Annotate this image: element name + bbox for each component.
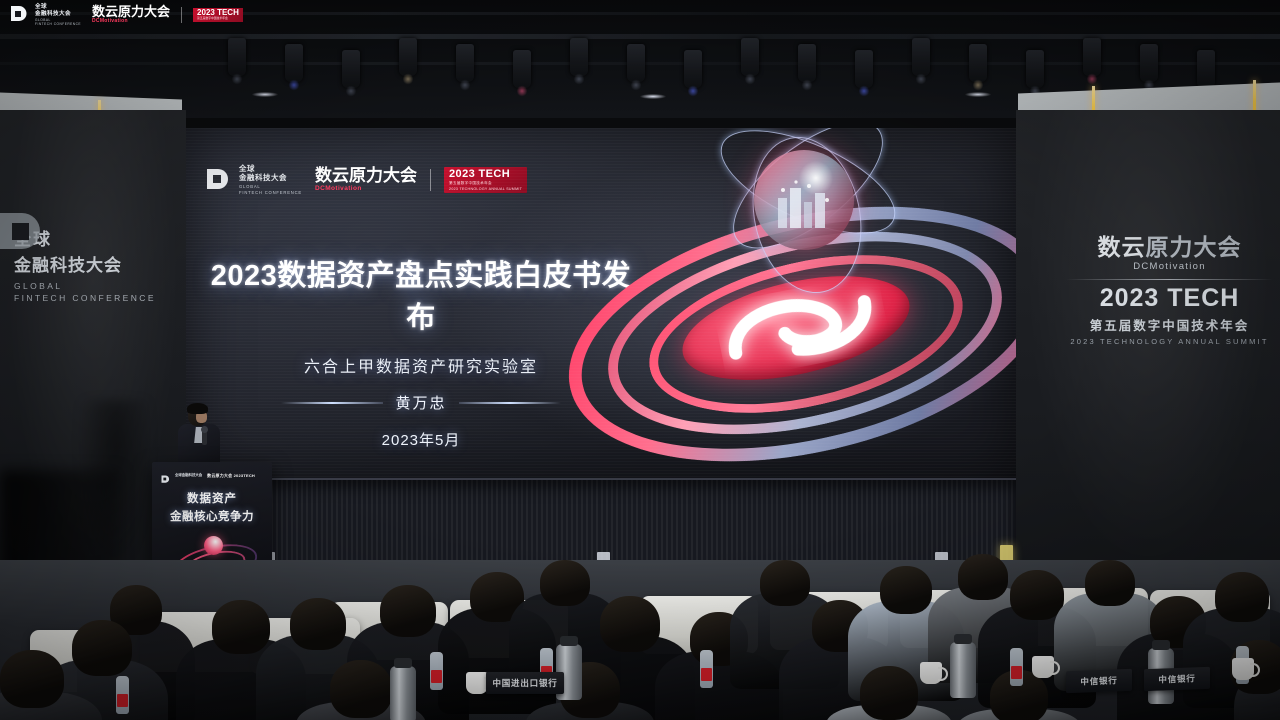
stage-light-14 [969,44,987,82]
stage-light-17 [1140,44,1158,82]
audience-person-head-15 [1010,570,1064,620]
nameplate-2: 中信银行 [1144,667,1210,691]
podium-title-line2: 金融核心竞争力 [152,508,272,524]
wall-logo-right: 数云原力大会 DCMotivation 2023 TECH 第五届数字中国技术年… [1062,228,1277,346]
podium-title-block: 数据资产 金融核心竞争力 [152,490,272,524]
tea-cup-2 [920,662,942,684]
overlay-divider [181,7,182,23]
audience-person-head-5 [0,650,64,708]
wall-left-en2: FINTECH CONFERENCE [14,292,180,304]
thermos-flask-4 [390,666,416,720]
stage-light-18 [1197,50,1215,88]
audience-person-head-2 [212,600,270,654]
spotlight-beam-3 [965,92,991,97]
fintech-mark-icon [206,167,233,194]
nameplate-label: 中信银行 [1080,674,1117,687]
screen-logo-event-cn: 数云原力大会 [315,168,417,184]
audience-person-head-6 [380,585,436,637]
wall-left-en1: GLOBAL [14,280,180,292]
wall-right-line5: 2023 TECHNOLOGY ANNUAL SUMMIT [1062,337,1277,346]
water-bottle-3 [1010,648,1023,686]
audience-person-head-3 [290,598,346,650]
stage-light-11 [798,44,816,82]
stage-light-16 [1083,38,1101,76]
fintech-mark-icon [10,5,30,25]
tea-cup-3 [1232,658,1254,680]
water-bottle-1 [430,652,443,690]
wall-right-divider [1066,279,1273,280]
screen-logo-year-badge: 2023 TECH 第五届数字中国技术年会 2023 TECHNOLOGY AN… [444,167,527,193]
spotlight-beam-2 [640,94,666,99]
screen-year: 2023 TECH [449,169,522,180]
stage-light-4 [399,38,417,76]
wall-right-line1: 数云原力大会 [1062,228,1277,262]
overlay-en2: FINTECH CONFERENCE [35,22,81,26]
audience-person-head-11 [760,560,810,606]
audience-person-head-16 [1085,560,1135,606]
audience-person-head-13 [880,566,932,614]
overlay-cn1: 全球 [35,4,81,11]
audience-person-head-8 [540,560,590,606]
stage-light-15 [1026,50,1044,88]
stage-light-10 [741,38,759,76]
podium-logo-label-2: 数云原力大会 2023TECH [207,473,255,479]
audience-person-head-4 [72,620,132,676]
screen-logo-event-en: DCMotivation [315,185,417,192]
nameplate-label: 中信银行 [1158,672,1195,685]
stage-graphic-swirl [542,136,1016,476]
podium-logo-label-1: 全球金融科技大会 [175,473,202,477]
screen-logo-dcmotivation: 数云原力大会 DCMotivation [315,168,417,191]
screen-year-sub1: 第五届数字中国技术年会 [449,181,522,186]
nameplate-0: 中国进出口银行 [486,672,564,694]
water-bottle-5 [116,676,129,714]
stage-light-5 [456,44,474,82]
overlay-logo-fintech: 全球 金融科技大会 GLOBAL FINTECH CONFERENCE [10,4,81,26]
nameplate-1: 中信银行 [1066,669,1132,693]
wall-right-line4: 第五届数字中国技术年会 [1062,315,1277,334]
water-bottle-6 [700,650,713,688]
overlay-event-cn: 数云原力大会 [92,6,170,18]
overlay-cn2: 金融科技大会 [35,11,81,18]
broadcast-overlay-logos: 全球 金融科技大会 GLOBAL FINTECH CONFERENCE 数云原力… [10,4,243,26]
city-skyline-icon [776,180,834,228]
screen-logo-cn1: 全球 [239,164,302,173]
overlay-year-sub: 第五届数字中国技术年会 [197,17,239,20]
nameplate-label: 中国进出口银行 [492,677,557,689]
podium-title-line1: 数据资产 [152,490,272,506]
wall-right-line2: DCMotivation [1062,261,1277,272]
screen-logo-en1: GLOBAL [239,184,302,190]
wall-logo-left: 全球 金融科技大会 GLOBAL FINTECH CONFERENCE [14,225,180,305]
wall-right-line3: 2023 TECH [1062,286,1277,311]
screen-logo-fintech: 全球 金融科技大会 GLOBAL FINTECH CONFERENCE [206,164,302,196]
presenter-name: 黄万忠 [395,392,446,413]
screen-logo-divider [430,169,431,191]
audience-person-head-20 [330,660,392,718]
stage-light-7 [570,38,588,76]
screen-logo-bar: 全球 金融科技大会 GLOBAL FINTECH CONFERENCE 数云原力… [206,164,527,196]
conference-stage-photo: 全球 金融科技大会 GLOBAL FINTECH CONFERENCE 数云原力… [0,0,1280,720]
audience-person-head-22 [860,666,918,720]
stage-light-13 [912,38,930,76]
audience-person-head-18 [1215,572,1269,622]
screen-logo-en2: FINTECH CONFERENCE [239,190,302,196]
fintech-mark-icon [0,209,52,279]
stage-light-12 [855,50,873,88]
audience-person-head-9 [600,596,660,652]
podium-logo-bar: 全球金融科技大会 数云原力大会 2023TECH [161,471,255,480]
stage-light-9 [684,50,702,88]
main-led-screen: 全球 金融科技大会 GLOBAL FINTECH CONFERENCE 数云原力… [186,128,1016,480]
stage-light-2 [285,44,303,82]
tea-cup-4 [466,672,488,694]
wall-right [1016,110,1280,590]
spotlight-beam-1 [252,92,278,97]
stage-light-3 [342,50,360,88]
data-sphere-icon [754,150,854,250]
presenter-person [176,404,220,466]
overlay-event-en: DCMotivation [92,18,170,24]
name-rule-left [281,402,383,404]
fintech-mark-icon [161,471,170,480]
audience-person-head-14 [958,554,1008,600]
stage-light-8 [627,44,645,82]
overlay-year-badge: 2023 TECH 第五届数字中国技术年会 [193,8,243,21]
stage-light-6 [513,50,531,88]
tea-cup-1 [1032,656,1054,678]
overlay-logo-event: 数云原力大会 DCMotivation [92,6,170,24]
stage-light-1 [228,38,246,76]
screen-logo-cn2: 金融科技大会 [239,173,302,182]
screen-year-sub2: 2023 TECHNOLOGY ANNUAL SUMMIT [449,187,522,192]
thermos-flask-2 [950,642,976,698]
microphone-icon [202,430,207,445]
